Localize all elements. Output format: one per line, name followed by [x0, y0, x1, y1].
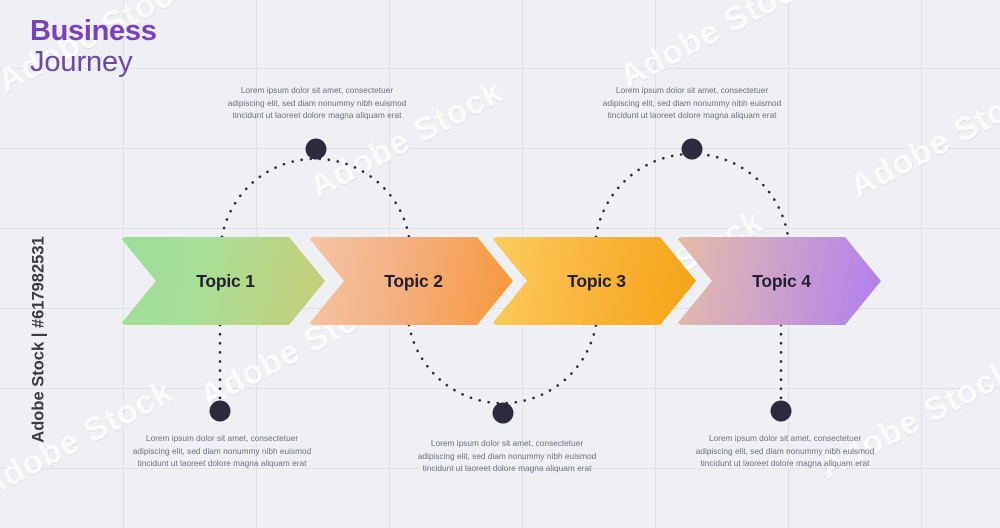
watermark-text: Adobe Stock [614, 0, 820, 96]
node-dot-bottom-2[interactable] [493, 403, 514, 424]
chevron-step-3[interactable]: Topic 3 [491, 237, 696, 325]
node-dot-bottom-1[interactable] [210, 401, 231, 422]
description-top-1: Lorem ipsum dolor sit amet, consectetuer… [222, 84, 412, 122]
title-line-1: Business [30, 16, 157, 47]
arc-connector-upper-1 [222, 159, 409, 237]
node-dot-top-2[interactable] [682, 139, 703, 160]
page-title: Business Journey [30, 16, 157, 79]
description-bottom-1: Lorem ipsum dolor sit amet, consectetuer… [127, 432, 317, 470]
node-dot-bottom-3[interactable] [771, 401, 792, 422]
arc-connector-lower-1 [409, 325, 596, 403]
chevron-label-4: Topic 4 [752, 271, 811, 292]
description-bottom-3: Lorem ipsum dolor sit amet, consectetuer… [690, 432, 880, 470]
infographic-canvas: Adobe Stock Adobe Stock Adobe Stock Adob… [0, 0, 1000, 528]
chevron-label-2: Topic 2 [384, 271, 443, 292]
chevron-label-3: Topic 3 [567, 271, 626, 292]
node-dot-top-1[interactable] [306, 139, 327, 160]
chevron-label-1: Topic 1 [196, 271, 255, 292]
watermark-text: Adobe Stock [844, 72, 1000, 205]
description-top-2: Lorem ipsum dolor sit amet, consectetuer… [597, 84, 787, 122]
chevron-step-1[interactable]: Topic 1 [120, 237, 325, 325]
chevron-step-2[interactable]: Topic 2 [308, 237, 513, 325]
title-line-2: Journey [30, 47, 157, 78]
arc-connector-upper-2 [596, 154, 788, 237]
watermark-id-label: Adobe Stock | #617982531 [30, 215, 49, 465]
chevron-step-4[interactable]: Topic 4 [676, 237, 881, 325]
description-bottom-2: Lorem ipsum dolor sit amet, consectetuer… [412, 437, 602, 475]
